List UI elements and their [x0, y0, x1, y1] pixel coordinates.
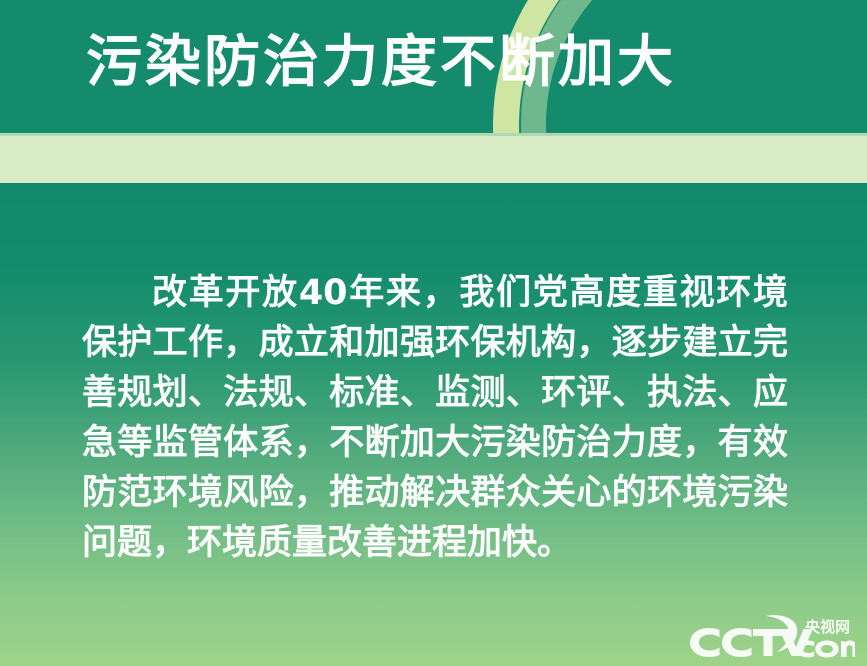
cctv-logo-chinese-text: 央视网: [805, 618, 850, 636]
separator-top-rule: [0, 133, 867, 136]
page-title: 污染防治力度不断加大: [86, 26, 676, 100]
cctv-logo-icon: 央视网: [687, 612, 855, 660]
separator-band: [0, 133, 867, 183]
body-paragraph: 改革开放40年来，我们党高度重视环境保护工作，成立和加强环保机构，逐步建立完善规…: [82, 268, 788, 568]
poster-canvas: 污染防治力度不断加大 改革开放40年来，我们党高度重视环境保护工作，成立和加强环…: [0, 0, 867, 666]
cctv-logo: 央视网: [687, 612, 855, 660]
